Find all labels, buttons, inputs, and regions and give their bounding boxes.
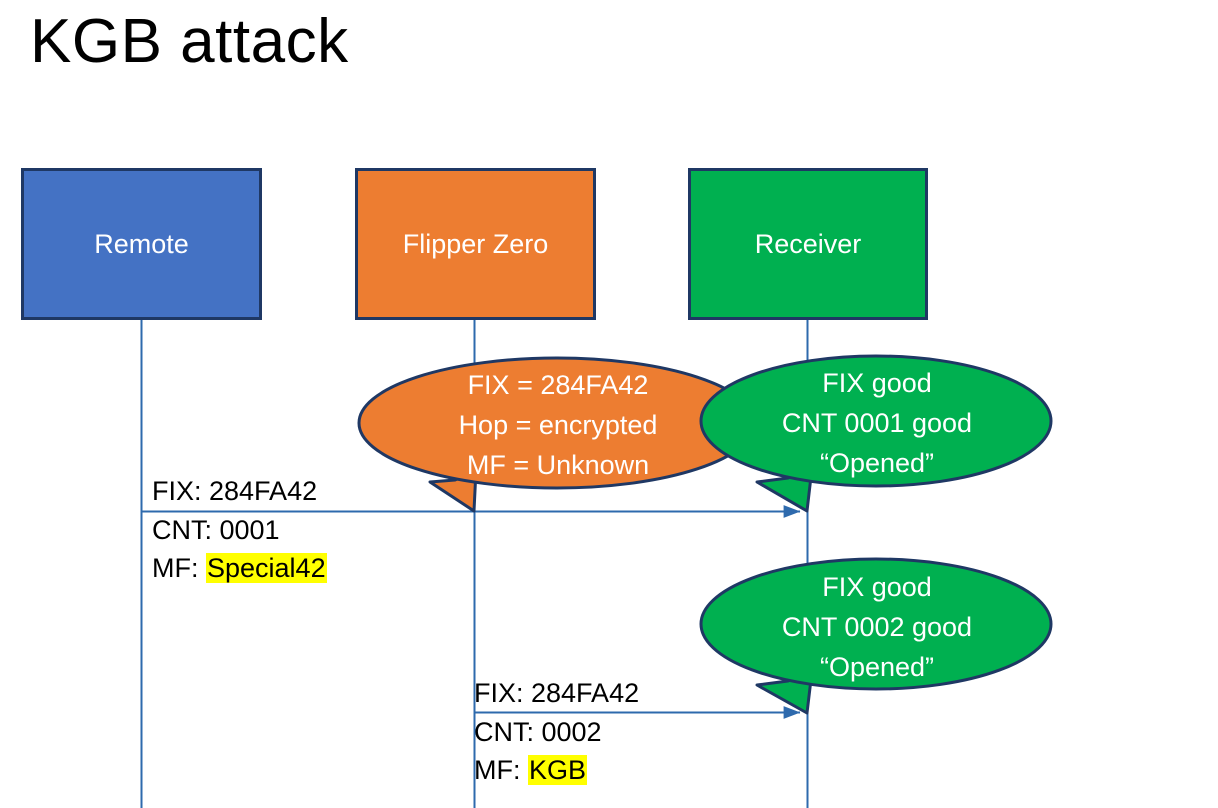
message-label-flipper-to-receiver: FIX: 284FA42 CNT: 0002 MF: KGB — [474, 674, 639, 790]
message-mf-highlight: KGB — [528, 755, 587, 785]
actor-box-remote[interactable]: Remote — [21, 168, 262, 320]
actor-label-receiver: Receiver — [755, 228, 862, 260]
message-line-mf: MF: Special42 — [152, 549, 327, 588]
message-mf-highlight: Special42 — [206, 553, 327, 583]
message-line-mf: MF: KGB — [474, 751, 639, 790]
callout-receiver-first — [701, 356, 1051, 511]
message-line-cnt: CNT: 0001 — [152, 511, 327, 550]
message-mf-prefix: MF: — [474, 755, 528, 785]
callout-flipper-capture — [359, 358, 755, 511]
actor-box-flipper-zero[interactable]: Flipper Zero — [355, 168, 596, 320]
actor-label-remote: Remote — [94, 228, 189, 260]
slide-canvas: KGB attack Re — [0, 0, 1218, 808]
message-mf-prefix: MF: — [152, 553, 206, 583]
message-line-fix: FIX: 284FA42 — [152, 472, 327, 511]
message-label-remote-to-receiver: FIX: 284FA42 CNT: 0001 MF: Special42 — [152, 472, 327, 588]
message-line-cnt: CNT: 0002 — [474, 713, 639, 752]
actor-box-receiver[interactable]: Receiver — [688, 168, 928, 320]
message-line-fix: FIX: 284FA42 — [474, 674, 639, 713]
callout-receiver-second — [701, 559, 1051, 713]
actor-label-flipper-zero: Flipper Zero — [403, 228, 549, 260]
